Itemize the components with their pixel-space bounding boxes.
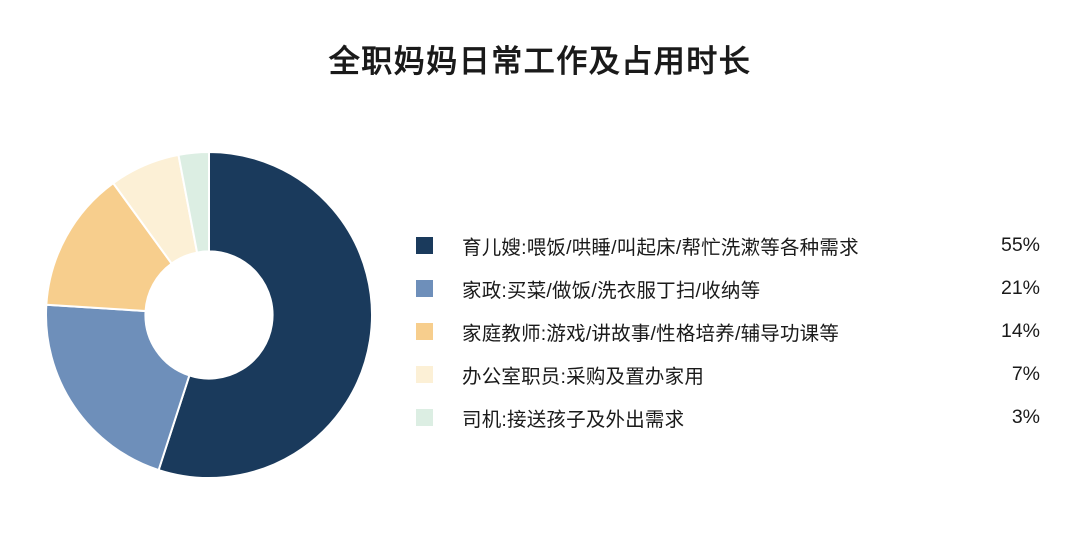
legend-item-label: 司机:接送孩子及外出需求 [462,403,978,432]
donut-chart [46,152,372,478]
legend-item-label: 家政:买菜/做饭/洗衣服丁扫/收纳等 [462,274,978,303]
legend-color-swatch [416,366,433,383]
legend-item-value: 14% [978,320,1040,343]
legend-item-label: 办公室职员:采购及置办家用 [462,360,978,389]
legend-item-value: 7% [978,363,1040,386]
legend-item[interactable]: 办公室职员:采购及置办家用7% [416,353,1040,396]
legend-item-value: 21% [978,277,1040,300]
legend-item-value: 55% [978,234,1040,257]
legend-item[interactable]: 司机:接送孩子及外出需求3% [416,396,1040,439]
legend-color-swatch [416,237,433,254]
legend-item-label: 育儿嫂:喂饭/哄睡/叫起床/帮忙洗漱等各种需求 [462,231,978,260]
legend-item[interactable]: 育儿嫂:喂饭/哄睡/叫起床/帮忙洗漱等各种需求55% [416,224,1040,267]
legend-item[interactable]: 家庭教师:游戏/讲故事/性格培养/辅导功课等14% [416,310,1040,353]
legend-color-swatch [416,323,433,340]
legend-color-swatch [416,409,433,426]
donut-chart-svg [46,152,372,478]
legend-item-label: 家庭教师:游戏/讲故事/性格培养/辅导功课等 [462,317,978,346]
legend-item[interactable]: 家政:买菜/做饭/洗衣服丁扫/收纳等21% [416,267,1040,310]
page-title: 全职妈妈日常工作及占用时长 [0,36,1080,81]
chart-legend: 育儿嫂:喂饭/哄睡/叫起床/帮忙洗漱等各种需求55%家政:买菜/做饭/洗衣服丁扫… [416,224,1040,439]
legend-item-value: 3% [978,406,1040,429]
legend-color-swatch [416,280,433,297]
